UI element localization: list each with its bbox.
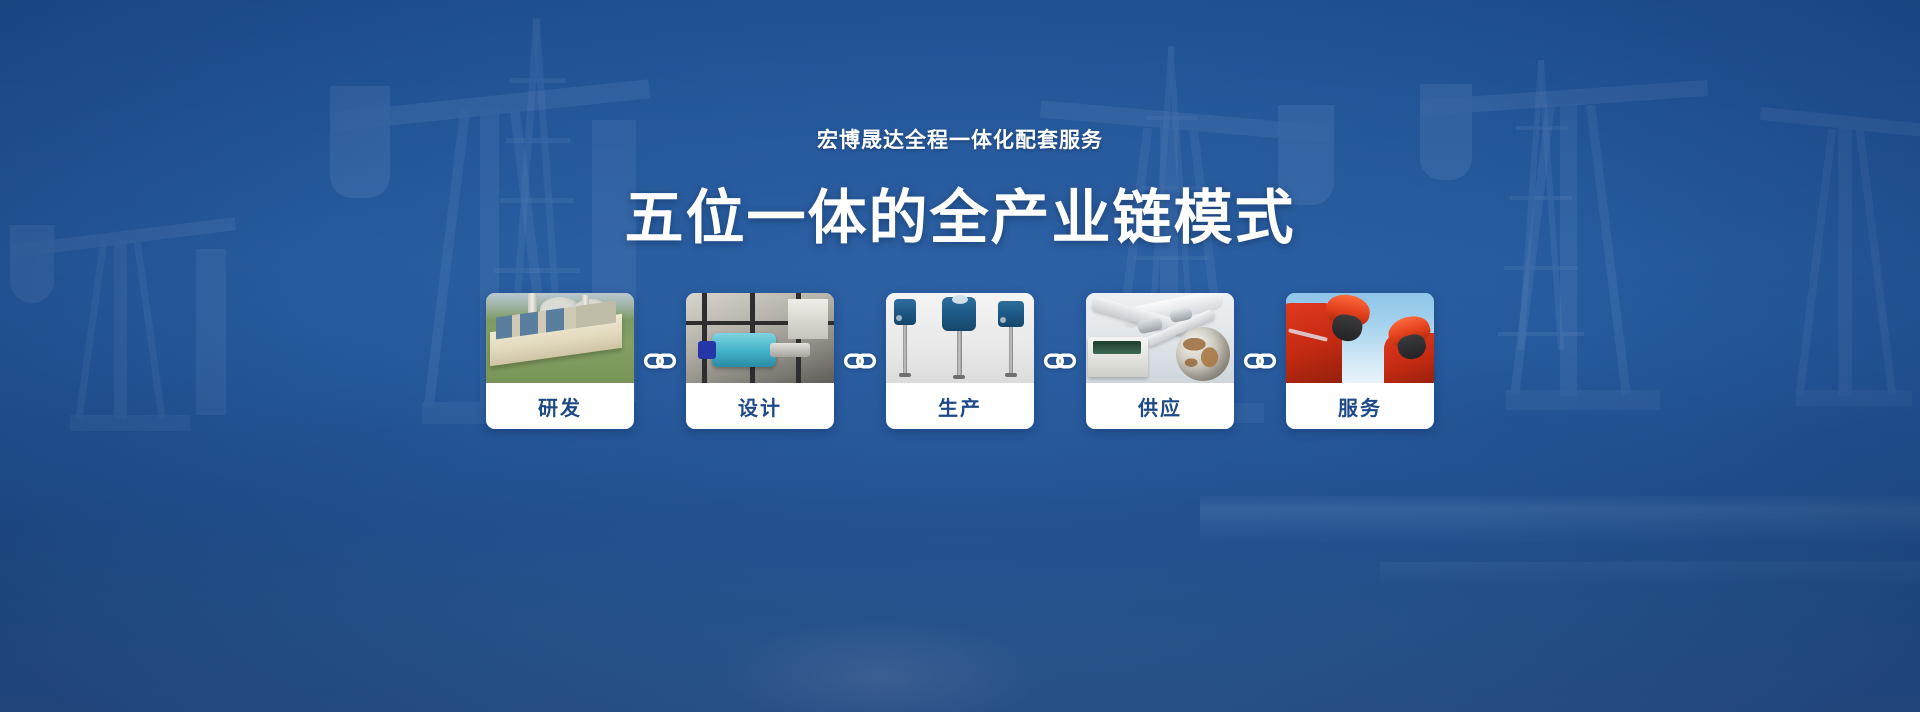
chain-link-icon: [834, 351, 886, 371]
hero-banner: 宏博晟达全程一体化配套服务 五位一体的全产业链模式 研发: [0, 0, 1920, 712]
level-sensor-thumbnail: [886, 293, 1034, 383]
chain-card-production[interactable]: 生产: [886, 293, 1034, 429]
chain-card-label: 服务: [1286, 383, 1434, 429]
chain-link-icon: [1234, 351, 1286, 371]
banner-content: 宏博晟达全程一体化配套服务 五位一体的全产业链模式 研发: [0, 0, 1920, 712]
chain-link-icon: [1034, 351, 1086, 371]
chain-card-label: 生产: [886, 383, 1034, 429]
logistics-thumbnail: [1086, 293, 1234, 383]
field-service-thumbnail: [1286, 293, 1434, 383]
chain-card-rd[interactable]: 研发: [486, 293, 634, 429]
industrial-plant-thumbnail: [486, 293, 634, 383]
banner-title: 五位一体的全产业链模式: [624, 170, 1295, 255]
chain-card-label: 设计: [686, 383, 834, 429]
chain-link-icon: [634, 351, 686, 371]
machinery-design-thumbnail: [686, 293, 834, 383]
chain-card-label: 研发: [486, 383, 634, 429]
chain-card-label: 供应: [1086, 383, 1234, 429]
chain-card-supply[interactable]: 供应: [1086, 293, 1234, 429]
value-chain-row: 研发: [486, 293, 1434, 429]
chain-card-service[interactable]: 服务: [1286, 293, 1434, 429]
banner-subtitle: 宏博晟达全程一体化配套服务: [817, 124, 1103, 154]
chain-card-design[interactable]: 设计: [686, 293, 834, 429]
